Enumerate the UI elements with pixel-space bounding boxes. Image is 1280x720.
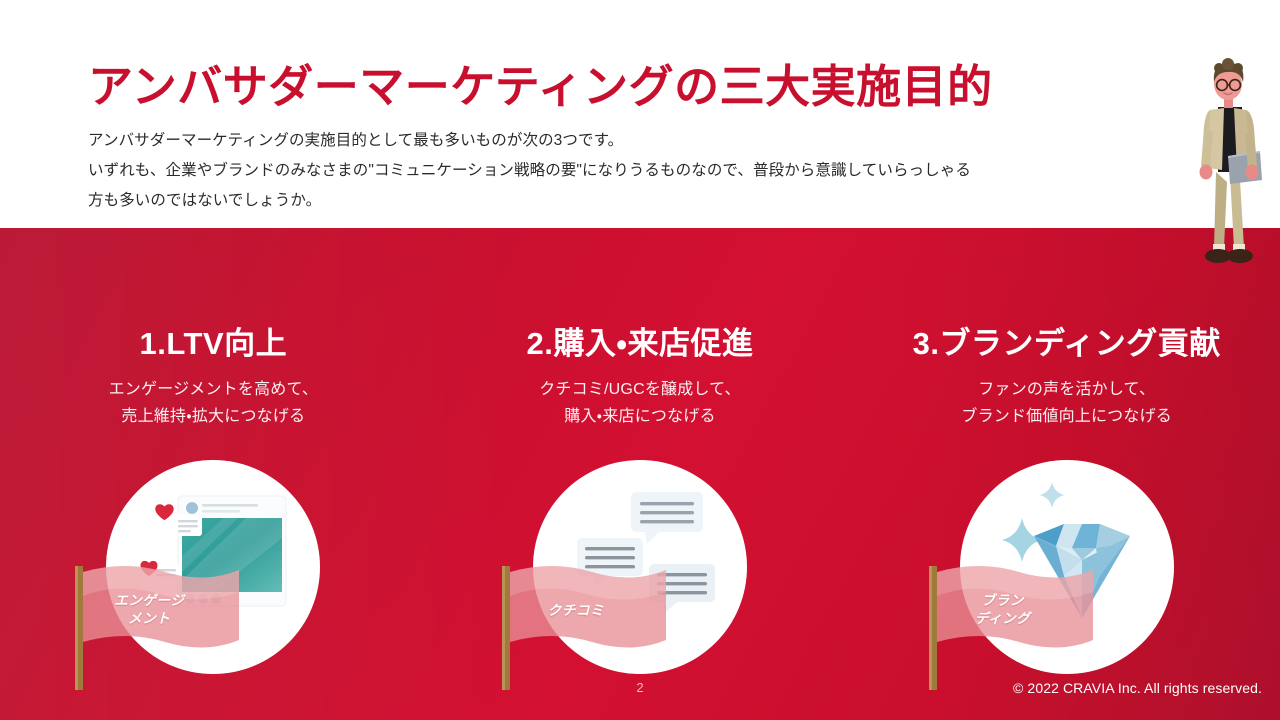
column-subtitle-line-2: ブランド価値向上につなげる [853, 403, 1280, 431]
flag-label: クチコミ [516, 602, 636, 620]
page-title: アンバサダーマーケティングの三大実施目的 [88, 62, 993, 112]
objective-column-branding: 3.ブランディング貢献 ファンの声を活かして、 ブランド価値向上につなげる [853, 228, 1280, 720]
column-title: 1.LTV向上 [0, 326, 427, 362]
slide-canvas: アンバサダーマーケティングの三大実施目的 アンバサダーマーケティングの実施目的と… [0, 0, 1280, 720]
column-subtitle: ファンの声を活かして、 ブランド価値向上につなげる [853, 376, 1280, 431]
lead-paragraph: アンバサダーマーケティングの実施目的として最も多いものが次の3つです。 いずれも… [88, 126, 1178, 217]
column-subtitle-line-1: エンゲージメントを高めて、 [0, 376, 427, 404]
lead-line-1: アンバサダーマーケティングの実施目的として最も多いものが次の3つです。 [88, 126, 1178, 156]
column-subtitle-line-1: ファンの声を活かして、 [853, 376, 1280, 404]
column-heading: 1.LTV向上 エンゲージメントを高めて、 売上維持・拡大につなげる [0, 326, 427, 431]
objective-column-purchase: 2.購入・来店促進 クチコミ/UGCを醸成して、 購入・来店につなげる [427, 228, 854, 720]
flag-label-line-2: ディング [943, 610, 1063, 628]
objective-column-ltv: 1.LTV向上 エンゲージメントを高めて、 売上維持・拡大につなげる [0, 228, 427, 720]
column-title: 3.ブランディング貢献 [853, 326, 1280, 362]
flag-label-line-2: メント [89, 610, 209, 628]
flag-label-line-1: クチコミ [516, 602, 636, 620]
flag-label-line-1: エンゲージ [89, 592, 209, 610]
slide-header: アンバサダーマーケティングの三大実施目的 アンバサダーマーケティングの実施目的と… [0, 0, 1280, 228]
objectives-columns: 1.LTV向上 エンゲージメントを高めて、 売上維持・拡大につなげる [0, 228, 1280, 720]
column-subtitle-line-2: 売上維持・拡大につなげる [0, 403, 427, 431]
column-subtitle: エンゲージメントを高めて、 売上維持・拡大につなげる [0, 376, 427, 431]
flag-label: ブラン ディング [943, 592, 1063, 628]
flag-banner: ブラン ディング [913, 562, 1099, 690]
column-heading: 2.購入・来店促進 クチコミ/UGCを醸成して、 購入・来店につなげる [427, 326, 854, 431]
flag-banner: クチコミ [486, 562, 672, 690]
column-subtitle: クチコミ/UGCを醸成して、 購入・来店につなげる [427, 376, 854, 431]
column-heading: 3.ブランディング貢献 ファンの声を活かして、 ブランド価値向上につなげる [853, 326, 1280, 431]
copyright-notice: © 2022 CRAVIA Inc. All rights reserved. [1013, 680, 1262, 696]
flag-banner: エンゲージ メント [59, 562, 245, 690]
column-subtitle-line-2: 購入・来店につなげる [427, 403, 854, 431]
column-subtitle-line-1: クチコミ/UGCを醸成して、 [427, 376, 854, 404]
column-title: 2.購入・来店促進 [427, 326, 854, 362]
lead-line-3: 方も多いのではないでしょうか。 [88, 186, 1178, 216]
lead-line-2: いずれも、企業やブランドのみなさまの"コミュニケーション戦略の要"になりうるもの… [88, 156, 1178, 186]
person-with-laptop-illustration [1180, 52, 1276, 274]
flag-label: エンゲージ メント [89, 592, 209, 628]
flag-label-line-1: ブラン [943, 592, 1063, 610]
